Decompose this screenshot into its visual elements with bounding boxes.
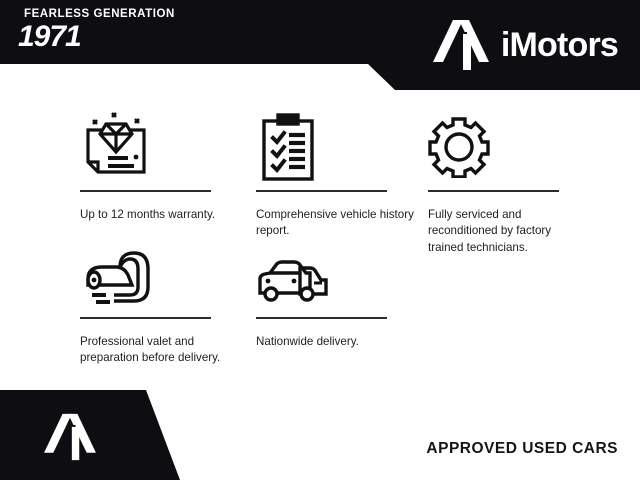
divider [80,317,211,319]
feature-item: Nationwide delivery. [256,245,431,350]
car-transporter-icon [256,245,431,313]
feature-item: Professional valet and preparation befor… [80,245,255,367]
promo-banner: FEARLESS GENERATION 1971 iMotors [0,0,640,480]
header: FEARLESS GENERATION 1971 iMotors [0,0,640,90]
feature-grid: Up to 12 months warranty. Com [0,90,640,390]
brand-lockup: iMotors [433,18,618,72]
header-year-1971: 1971 [18,22,81,52]
diamond-certificate-icon [80,108,255,186]
divider [256,317,387,319]
feature-item: Up to 12 months warranty. [80,108,255,223]
brand-name: iMotors [501,28,618,62]
feature-label: Comprehensive vehicle history report. [256,207,416,240]
gear-icon [428,108,603,186]
divider [428,190,559,192]
vacuum-cleaner-icon [80,245,255,313]
feature-item: Comprehensive vehicle history report. [256,108,431,240]
feature-label: Nationwide delivery. [256,334,416,350]
footer-caption: APPROVED USED CARS [426,440,618,458]
feature-item: Fully serviced and reconditioned by fact… [428,108,603,256]
feature-label: Professional valet and preparation befor… [80,334,240,367]
header-tagline: FEARLESS GENERATION [24,9,175,21]
imotors-chevron-logo-icon [44,412,96,467]
imotors-chevron-logo-icon [433,18,489,72]
divider [256,190,387,192]
feature-label: Up to 12 months warranty. [80,207,240,223]
footer [0,390,640,480]
divider [80,190,211,192]
footer-background-shape [0,390,640,480]
clipboard-checklist-icon [256,108,431,186]
feature-label: Fully serviced and reconditioned by fact… [428,207,588,256]
